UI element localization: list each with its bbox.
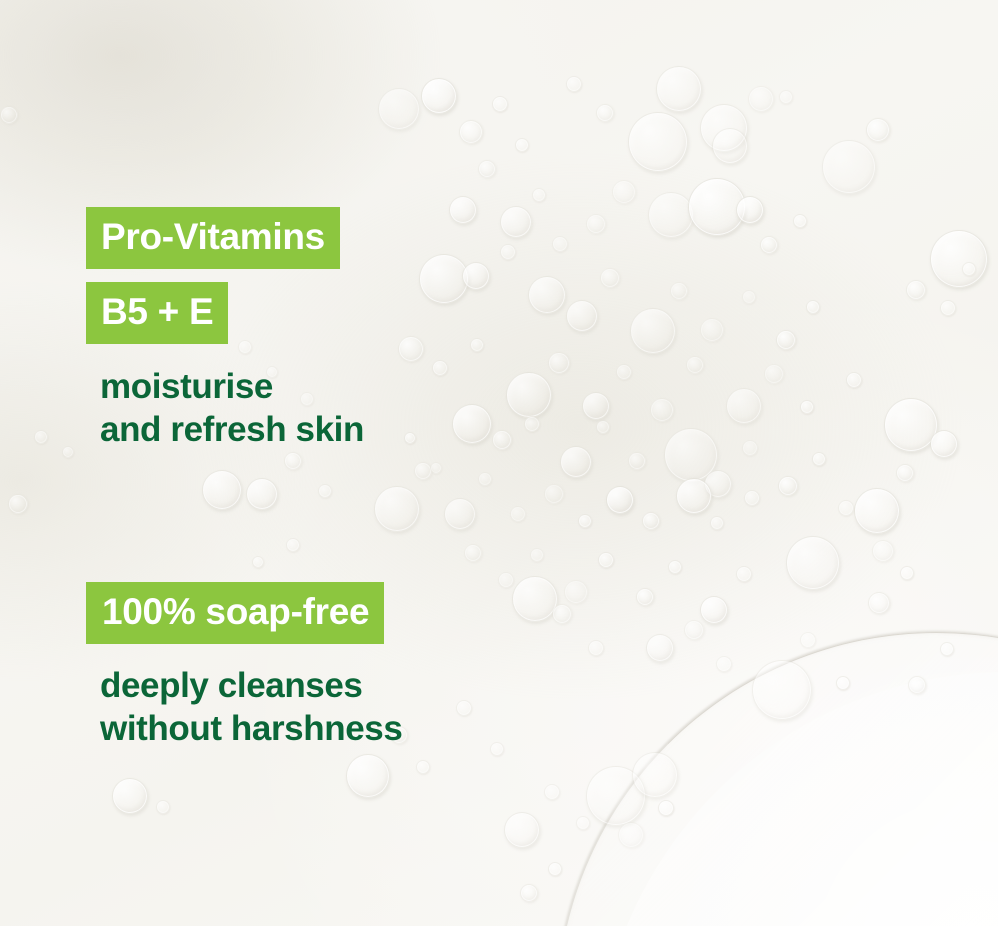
benefit-description-soap-free: deeply cleanses without harshness xyxy=(100,665,402,750)
tag-row: 100% soap-free xyxy=(86,582,402,644)
tag-row: Pro-Vitamins xyxy=(86,207,364,269)
content-layer: Pro-Vitamins B5 + E moisturise and refre… xyxy=(0,0,998,926)
tag-100-percent-soap-free: 100% soap-free xyxy=(86,582,384,644)
benefit-block-pro-vitamins: Pro-Vitamins B5 + E moisturise and refre… xyxy=(86,207,364,451)
tag-b5-plus-e: B5 + E xyxy=(86,282,228,344)
tag-pro-vitamins: Pro-Vitamins xyxy=(86,207,340,269)
benefit-block-soap-free: 100% soap-free deeply cleanses without h… xyxy=(86,582,402,750)
promo-panel: Pro-Vitamins B5 + E moisturise and refre… xyxy=(0,0,998,926)
tag-row: B5 + E xyxy=(86,282,364,344)
benefit-description-pro-vitamins: moisturise and refresh skin xyxy=(100,366,364,451)
